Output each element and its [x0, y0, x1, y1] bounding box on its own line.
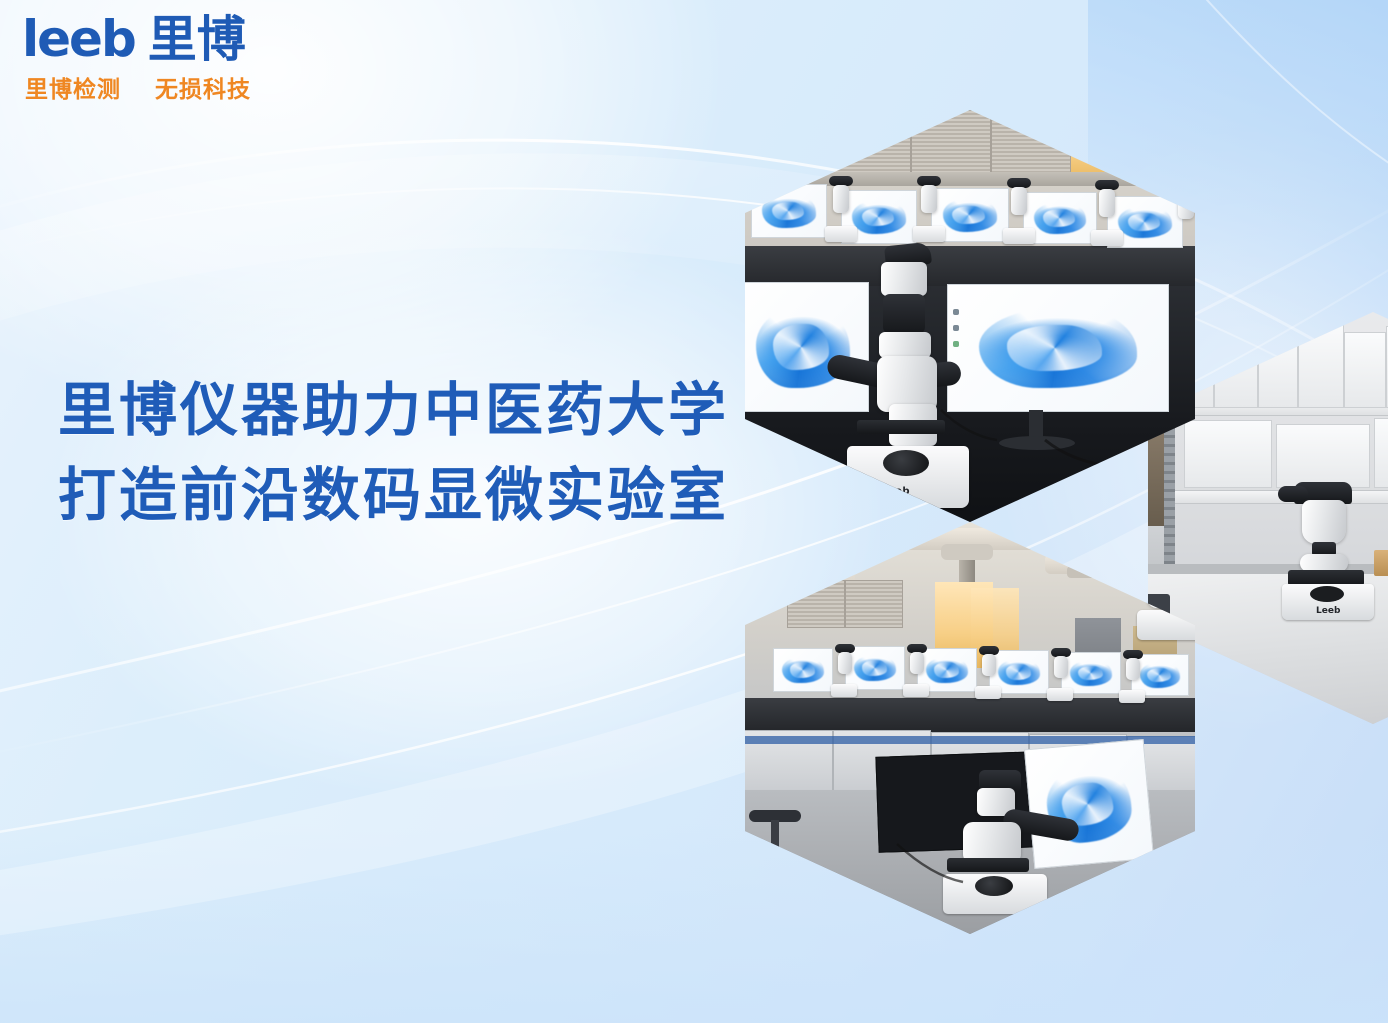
cable-lines-bottom — [745, 522, 1195, 934]
photo-scene-classroom-wide — [745, 522, 1195, 934]
microscope-left: Leeb — [1272, 482, 1388, 622]
hexagon-photo-cluster: Leeb Leeb — [0, 0, 1388, 1023]
photo-scene-classroom-front: Leeb — [745, 110, 1195, 522]
cable-lines — [745, 110, 1195, 522]
photo-hex-bottom[interactable] — [745, 522, 1195, 934]
promo-banner: leeb 里博 里博检测 无损科技 里博仪器助力中医药大学 打造前沿数码显微实验… — [0, 0, 1388, 1023]
photo-hex-top[interactable]: Leeb — [745, 110, 1195, 522]
